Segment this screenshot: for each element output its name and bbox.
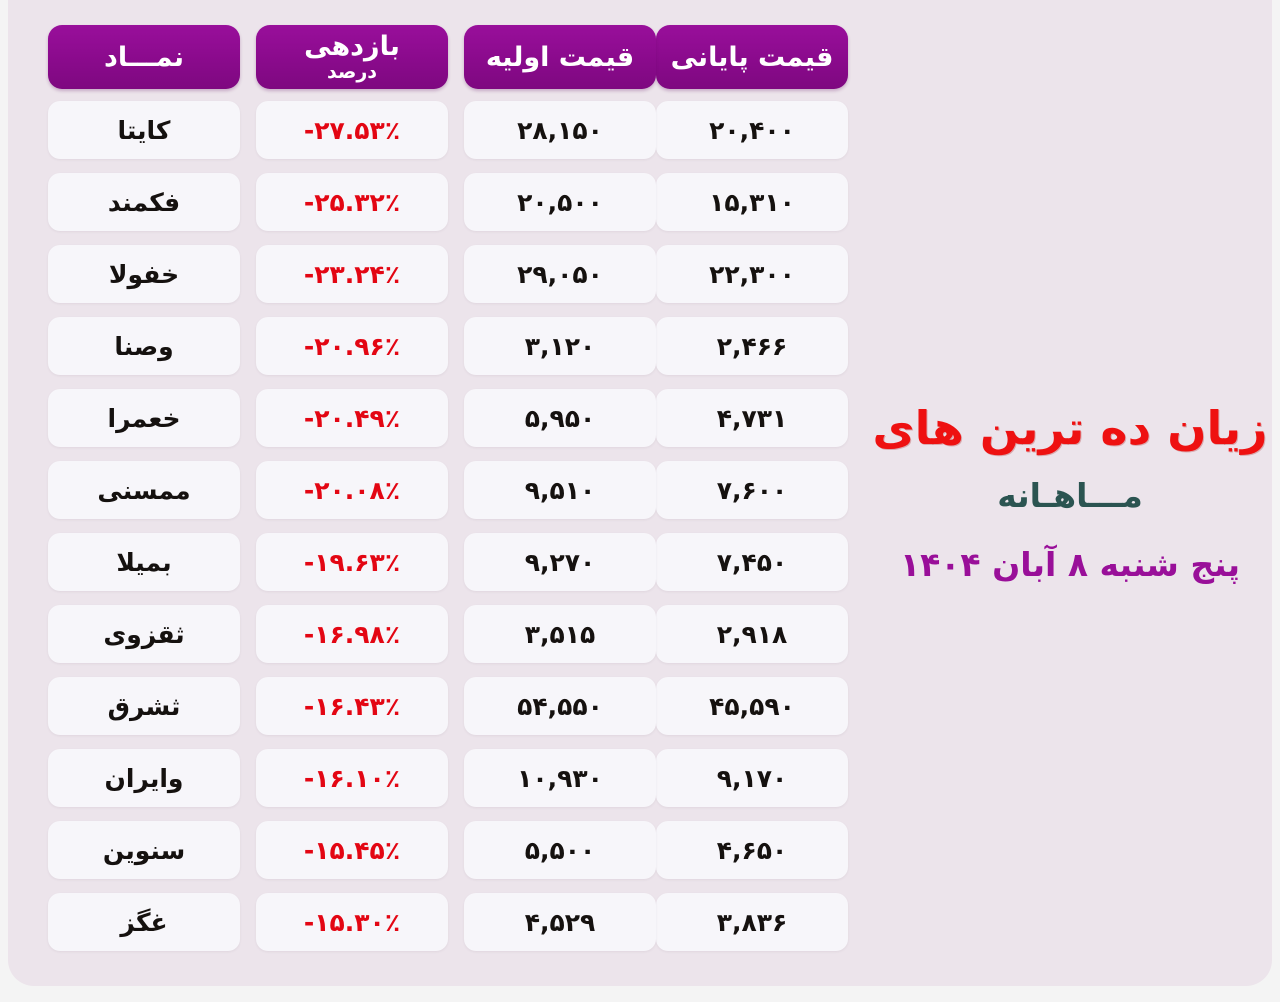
page-title: زیان ده ترین های xyxy=(873,402,1268,455)
cell-final-price: ۲,۹۱۸ xyxy=(656,605,848,663)
cell-final-price: ۲۰,۴۰۰ xyxy=(656,101,848,159)
cell-initial-price: ۳,۱۲۰ xyxy=(464,317,656,375)
cell-initial-price: ۹,۵۱۰ xyxy=(464,461,656,519)
cell-symbol: وصنا xyxy=(48,317,240,375)
cell-return-percent: -۲۰.۰۸٪ xyxy=(256,461,448,519)
header-label-initial-price: قیمت اولیه xyxy=(486,44,634,71)
cell-symbol: ثشرق xyxy=(48,677,240,735)
cell-final-price: ۱۵,۳۱۰ xyxy=(656,173,848,231)
cell-final-price: ۷,۶۰۰ xyxy=(656,461,848,519)
header-label-final-price: قیمت پایانی xyxy=(671,44,834,71)
cell-initial-price: ۲۹,۰۵۰ xyxy=(464,245,656,303)
cell-return-percent: -۱۶.۴۳٪ xyxy=(256,677,448,735)
table-row: وایران-۱۶.۱۰٪۱۰,۹۳۰۹,۱۷۰ xyxy=(32,749,860,807)
screenshot-root: نمـــاد بازدهی درصد قیمت اولیه قیمت پایا… xyxy=(0,0,1280,1002)
cell-final-price: ۴,۷۳۱ xyxy=(656,389,848,447)
cell-final-price: ۹,۱۷۰ xyxy=(656,749,848,807)
cell-initial-price: ۱۰,۹۳۰ xyxy=(464,749,656,807)
cell-return-percent: -۲۰.۴۹٪ xyxy=(256,389,448,447)
title-block: زیان ده ترین های مـــاهـانه پنج شنبه ۸ آ… xyxy=(870,0,1270,986)
table-header-row: نمـــاد بازدهی درصد قیمت اولیه قیمت پایا… xyxy=(32,25,860,89)
cell-final-price: ۲,۴۶۶ xyxy=(656,317,848,375)
table-row: ثقزوی-۱۶.۹۸٪۳,۵۱۵۲,۹۱۸ xyxy=(32,605,860,663)
cell-return-percent: -۱۶.۱۰٪ xyxy=(256,749,448,807)
cell-return-percent: -۲۳.۲۴٪ xyxy=(256,245,448,303)
cell-symbol: وایران xyxy=(48,749,240,807)
cell-return-percent: -۲۷.۵۳٪ xyxy=(256,101,448,159)
cell-symbol: خفولا xyxy=(48,245,240,303)
cell-symbol: سنوین xyxy=(48,821,240,879)
cell-symbol: کایتا xyxy=(48,101,240,159)
table-row: فکمند-۲۵.۳۲٪۲۰,۵۰۰۱۵,۳۱۰ xyxy=(32,173,860,231)
cell-return-percent: -۱۶.۹۸٪ xyxy=(256,605,448,663)
losers-table: نمـــاد بازدهی درصد قیمت اولیه قیمت پایا… xyxy=(32,25,860,970)
cell-initial-price: ۲۸,۱۵۰ xyxy=(464,101,656,159)
cell-symbol: غگز xyxy=(48,893,240,951)
cell-symbol: ممسنی xyxy=(48,461,240,519)
cell-final-price: ۴۵,۵۹۰ xyxy=(656,677,848,735)
cell-initial-price: ۵۴,۵۵۰ xyxy=(464,677,656,735)
table-row: وصنا-۲۰.۹۶٪۳,۱۲۰۲,۴۶۶ xyxy=(32,317,860,375)
cell-symbol: فکمند xyxy=(48,173,240,231)
table-row: خعمرا-۲۰.۴۹٪۵,۹۵۰۴,۷۳۱ xyxy=(32,389,860,447)
report-date: پنج شنبه ۸ آبان ۱۴۰۴ xyxy=(900,545,1240,584)
cell-initial-price: ۳,۵۱۵ xyxy=(464,605,656,663)
table-row: بمیلا-۱۹.۶۳٪۹,۲۷۰۷,۴۵۰ xyxy=(32,533,860,591)
cell-final-price: ۲۲,۳۰۰ xyxy=(656,245,848,303)
header-cell-return: بازدهی درصد xyxy=(256,25,448,89)
table-row: کایتا-۲۷.۵۳٪۲۸,۱۵۰۲۰,۴۰۰ xyxy=(32,101,860,159)
table-row: ممسنی-۲۰.۰۸٪۹,۵۱۰۷,۶۰۰ xyxy=(32,461,860,519)
header-cell-final-price: قیمت پایانی xyxy=(656,25,848,89)
table-row: ثشرق-۱۶.۴۳٪۵۴,۵۵۰۴۵,۵۹۰ xyxy=(32,677,860,735)
cell-return-percent: -۱۵.۴۵٪ xyxy=(256,821,448,879)
cell-return-percent: -۲۰.۹۶٪ xyxy=(256,317,448,375)
header-label-symbol: نمـــاد xyxy=(104,44,184,71)
table-row: سنوین-۱۵.۴۵٪۵,۵۰۰۴,۶۵۰ xyxy=(32,821,860,879)
cell-return-percent: -۲۵.۳۲٪ xyxy=(256,173,448,231)
cell-initial-price: ۵,۹۵۰ xyxy=(464,389,656,447)
cell-symbol: ثقزوی xyxy=(48,605,240,663)
table-body: کایتا-۲۷.۵۳٪۲۸,۱۵۰۲۰,۴۰۰فکمند-۲۵.۳۲٪۲۰,۵… xyxy=(32,101,860,951)
cell-symbol: بمیلا xyxy=(48,533,240,591)
cell-return-percent: -۱۵.۳۰٪ xyxy=(256,893,448,951)
cell-initial-price: ۴,۵۲۹ xyxy=(464,893,656,951)
cell-final-price: ۳,۸۳۶ xyxy=(656,893,848,951)
table-row: خفولا-۲۳.۲۴٪۲۹,۰۵۰۲۲,۳۰۰ xyxy=(32,245,860,303)
cell-final-price: ۴,۶۵۰ xyxy=(656,821,848,879)
cell-initial-price: ۵,۵۰۰ xyxy=(464,821,656,879)
header-cell-initial-price: قیمت اولیه xyxy=(464,25,656,89)
cell-initial-price: ۹,۲۷۰ xyxy=(464,533,656,591)
page-subtitle: مـــاهـانه xyxy=(997,476,1143,515)
cell-symbol: خعمرا xyxy=(48,389,240,447)
cell-initial-price: ۲۰,۵۰۰ xyxy=(464,173,656,231)
table-row: غگز-۱۵.۳۰٪۴,۵۲۹۳,۸۳۶ xyxy=(32,893,860,951)
cell-final-price: ۷,۴۵۰ xyxy=(656,533,848,591)
header-label-return-main: بازدهی xyxy=(304,33,400,60)
cell-return-percent: -۱۹.۶۳٪ xyxy=(256,533,448,591)
header-cell-symbol: نمـــاد xyxy=(48,25,240,89)
header-label-return-sub: درصد xyxy=(327,63,377,82)
content-panel: نمـــاد بازدهی درصد قیمت اولیه قیمت پایا… xyxy=(8,0,1272,986)
